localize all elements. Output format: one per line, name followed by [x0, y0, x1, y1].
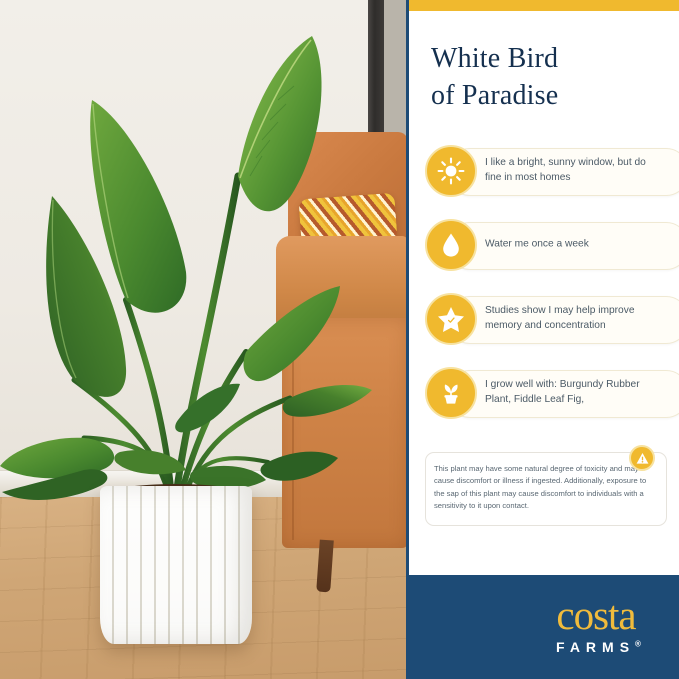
title-line-2: of Paradise — [431, 77, 661, 114]
gold-top-bar — [408, 0, 679, 11]
product-photo — [0, 0, 408, 679]
trademark-symbol: ® — [635, 639, 641, 648]
care-card-companions: I grow well with: Burgundy Rubber Plant,… — [425, 367, 675, 419]
care-card-water: Water me once a week — [425, 219, 675, 271]
logo-wordmark-primary: costa — [530, 596, 662, 635]
care-card-light: I like a bright, sunny window, but do fi… — [425, 145, 675, 197]
care-card-text: Water me once a week — [485, 238, 665, 253]
care-card-text: I like a bright, sunny window, but do fi… — [485, 156, 665, 186]
logo-farms-text: FARMS — [556, 639, 635, 655]
star-icon — [425, 293, 477, 345]
disclaimer-text: This plant may have some natural degree … — [434, 463, 652, 512]
logo-wordmark-secondary: FARMS® — [530, 639, 662, 655]
page-title: White Bird of Paradise — [431, 40, 661, 114]
potted-plant-icon — [425, 367, 477, 419]
warning-icon — [629, 445, 655, 471]
costa-farms-logo: costa FARMS® — [530, 596, 662, 655]
ceramic-planter-pot — [100, 486, 252, 644]
care-card-list: I like a bright, sunny window, but do fi… — [425, 145, 675, 441]
care-card-text: Studies show I may help improve memory a… — [485, 304, 665, 334]
care-card-benefit: Studies show I may help improve memory a… — [425, 293, 675, 345]
product-info-card: White Bird of Paradise I like a bright, … — [0, 0, 679, 679]
care-card-text: I grow well with: Burgundy Rubber Plant,… — [485, 378, 665, 408]
title-line-1: White Bird — [431, 40, 661, 77]
sun-icon — [425, 145, 477, 197]
water-drop-icon — [425, 219, 477, 271]
